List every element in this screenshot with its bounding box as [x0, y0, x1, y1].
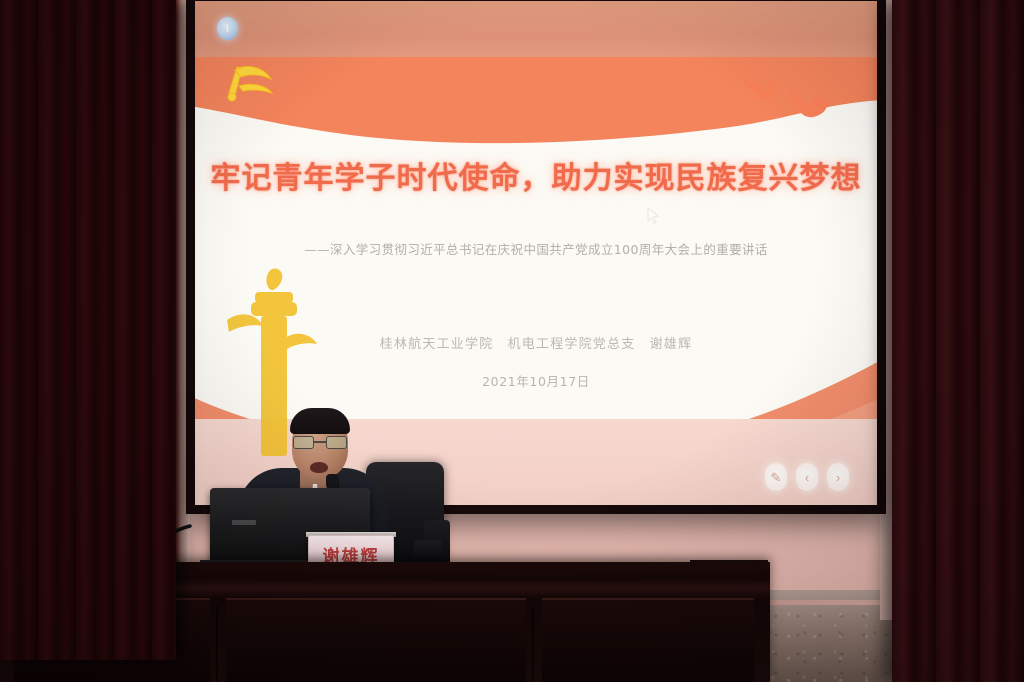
microphone-capsule [326, 474, 339, 489]
next-slide-icon[interactable]: › [827, 463, 849, 491]
eyeglasses-icon [292, 436, 350, 450]
flying-birds-graphic [735, 63, 845, 125]
curtain-left [0, 0, 176, 660]
slide-status-badge[interactable]: i [217, 17, 238, 40]
desk-panel-seam [216, 606, 218, 682]
slide-control-bar[interactable]: ✎ ‹ › [765, 463, 849, 491]
slide-affiliation: 桂林航天工业学院 机电工程学院党总支 谢雄辉 [195, 333, 877, 352]
pointer-tool-icon[interactable]: ✎ [765, 463, 787, 491]
curtain-right [892, 0, 1024, 682]
slide-date: 2021年10月17日 [195, 371, 877, 390]
desk-front-panel [542, 598, 754, 682]
mouse-cursor-icon [647, 207, 659, 225]
lens-right [326, 436, 347, 449]
speaker-hair [290, 408, 350, 434]
microphone-base [414, 540, 442, 564]
lecture-hall-scene: i 牢记青年学子时代使命，助力实现民族复兴梦想 ——深入学习贯彻习近平总书记在庆… [0, 0, 1024, 682]
slide-subtitle: ——深入学习贯彻习近平总书记在庆祝中国共产党成立100周年大会上的重要讲话 [195, 239, 877, 258]
glasses-bridge [314, 441, 326, 443]
cpc-emblem-icon [217, 53, 291, 113]
desk-panel-seam [532, 606, 534, 682]
laptop-logo [232, 520, 256, 525]
slide-title: 牢记青年学子时代使命，助力实现民族复兴梦想 [195, 153, 877, 197]
previous-slide-icon[interactable]: ‹ [796, 463, 818, 491]
speaker-mouth [310, 462, 328, 473]
projection-screen: i 牢记青年学子时代使命，助力实现民族复兴梦想 ——深入学习贯彻习近平总书记在庆… [186, 0, 886, 514]
desk-front-panel [226, 598, 526, 682]
lens-left [293, 436, 314, 449]
